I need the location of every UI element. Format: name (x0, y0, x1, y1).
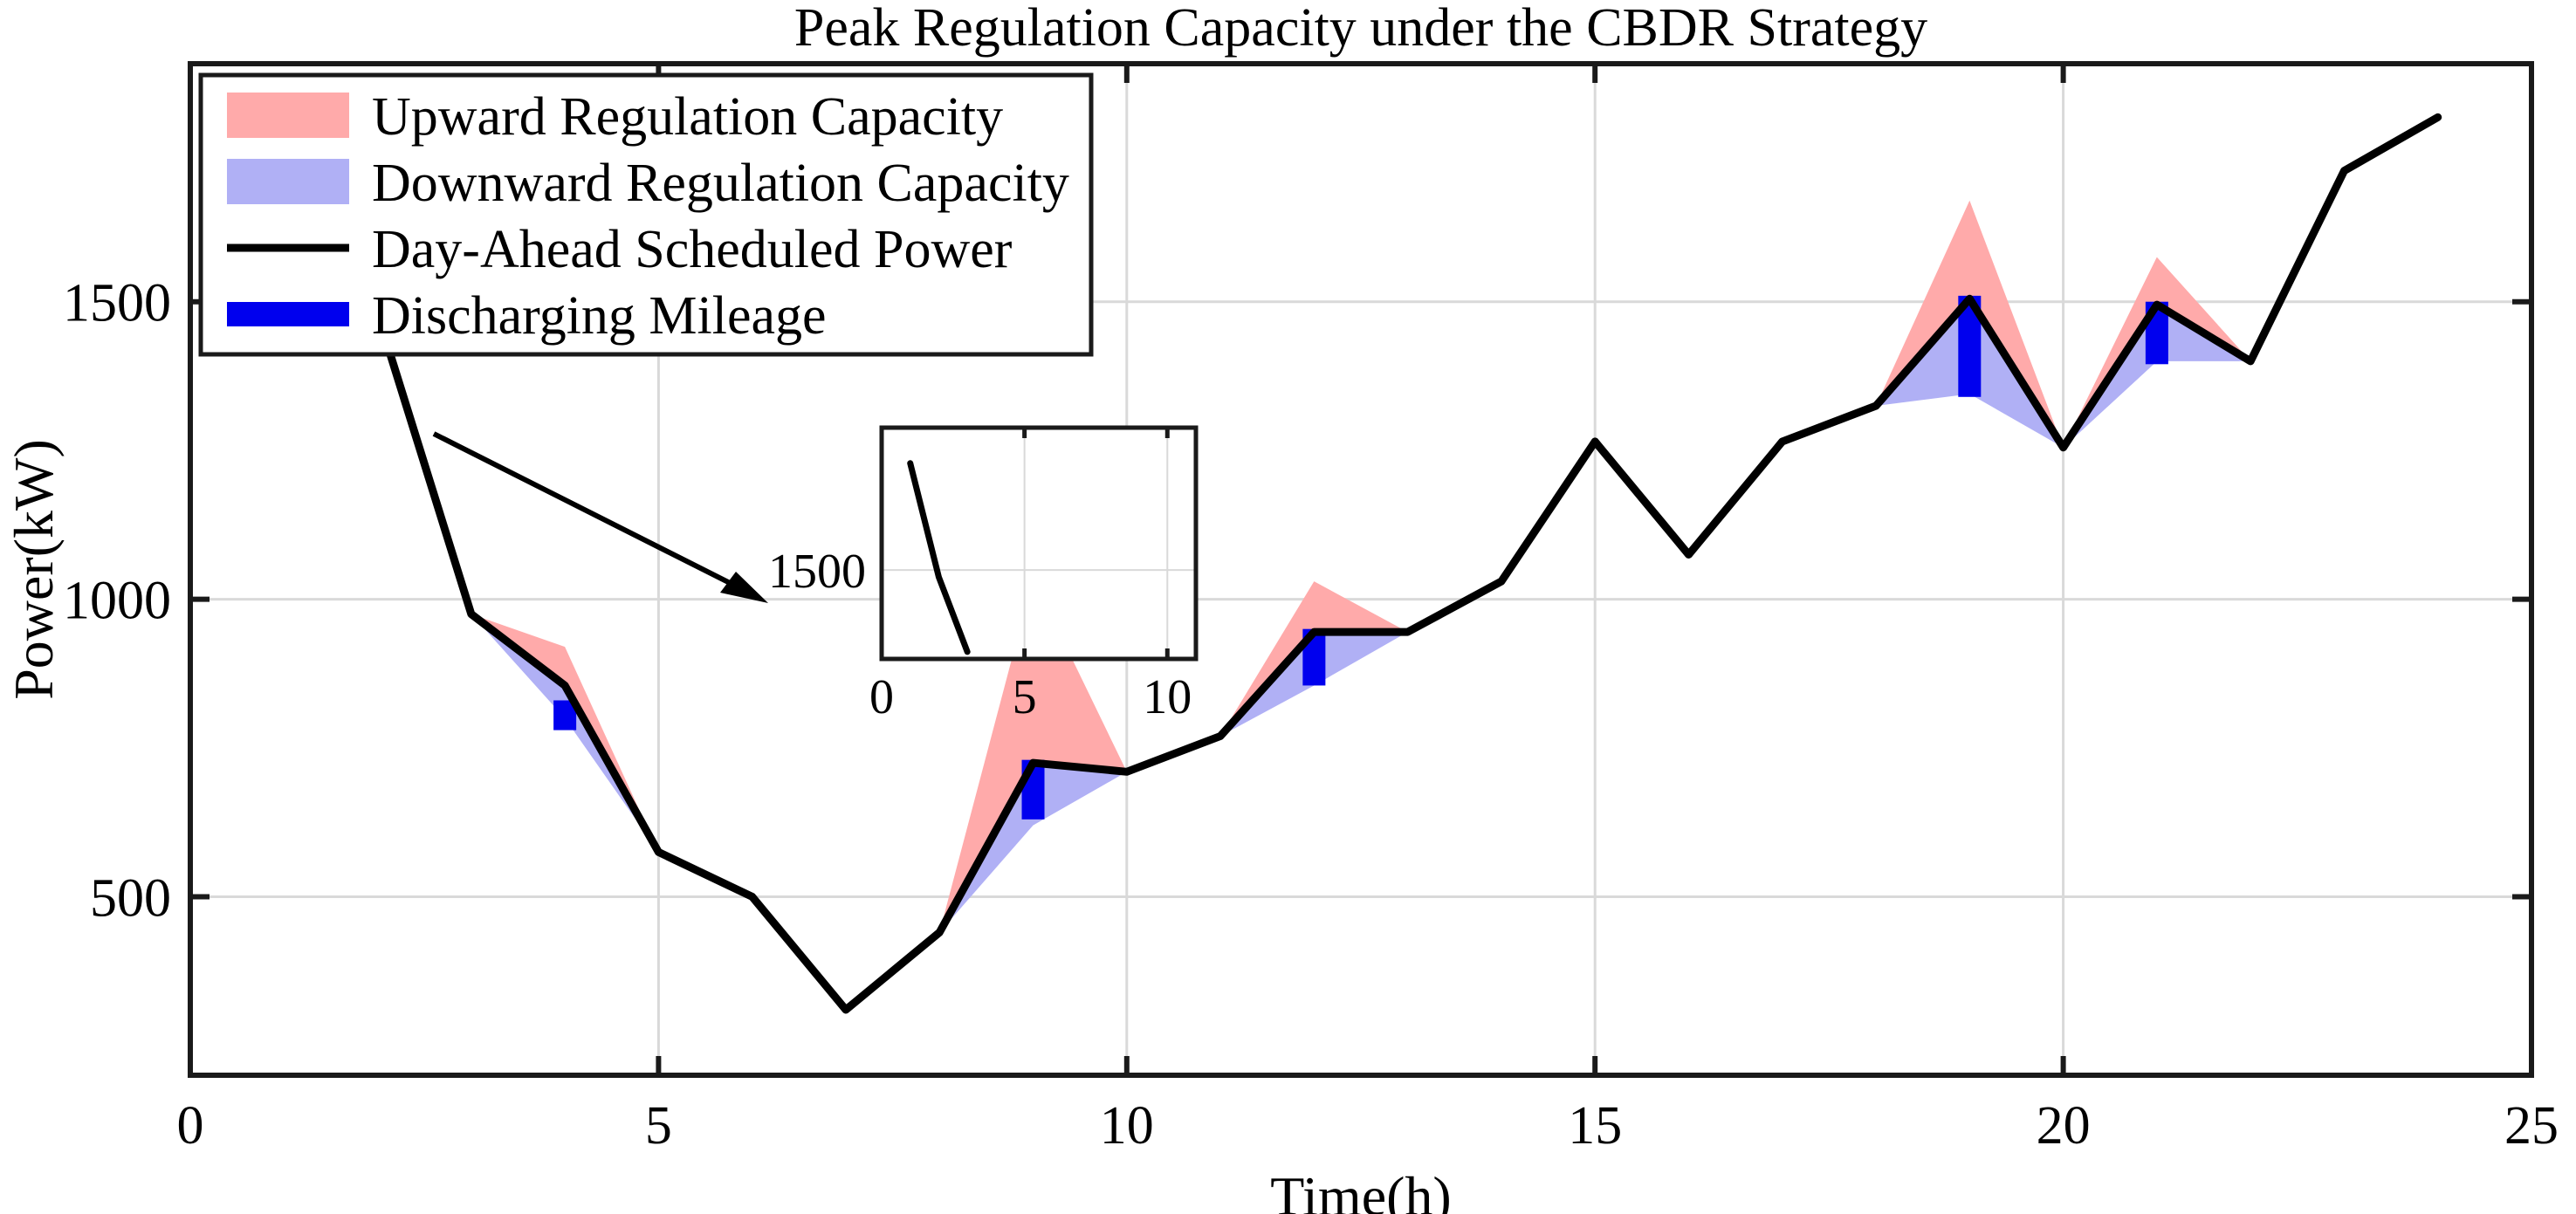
legend-label: Day-Ahead Scheduled Power (372, 220, 1013, 279)
legend-swatch (227, 159, 349, 204)
x-axis-tick-label: 0 (177, 1096, 204, 1156)
y-axis-tick-label: 500 (90, 868, 171, 928)
inset-y-tick-label: 1500 (768, 545, 866, 599)
chart-figure: 051015202550010001500Time(h)Power(kW)Pea… (0, 0, 2576, 1214)
y-axis-tick-label: 1000 (63, 572, 171, 631)
x-axis-tick-label: 20 (2037, 1096, 2091, 1156)
legend-label: Downward Regulation Capacity (372, 154, 1069, 213)
legend-swatch (227, 302, 349, 326)
x-axis-title: Time(h) (1270, 1165, 1451, 1214)
legend-label: Discharging Mileage (372, 286, 827, 346)
legend-item[interactable]: Upward Regulation Capacity (227, 87, 1003, 147)
y-axis-title: Power(kW) (3, 439, 65, 700)
chart-canvas: 051015202550010001500Time(h)Power(kW)Pea… (0, 0, 2576, 1214)
chart-title: Peak Regulation Capacity under the CBDR … (794, 0, 1927, 58)
inset-x-tick-label: 10 (1143, 670, 1192, 724)
x-axis-tick-label: 10 (1100, 1096, 1154, 1156)
x-axis-tick-label: 25 (2504, 1096, 2559, 1156)
inset-x-tick-label: 0 (869, 670, 894, 724)
inset-x-tick-label: 5 (1013, 670, 1037, 724)
y-axis-tick-label: 1500 (63, 274, 171, 333)
legend-swatch (227, 93, 349, 138)
x-axis-tick-label: 5 (645, 1096, 672, 1156)
legend-label: Upward Regulation Capacity (372, 87, 1003, 147)
x-axis-tick-label: 15 (1568, 1096, 1622, 1156)
